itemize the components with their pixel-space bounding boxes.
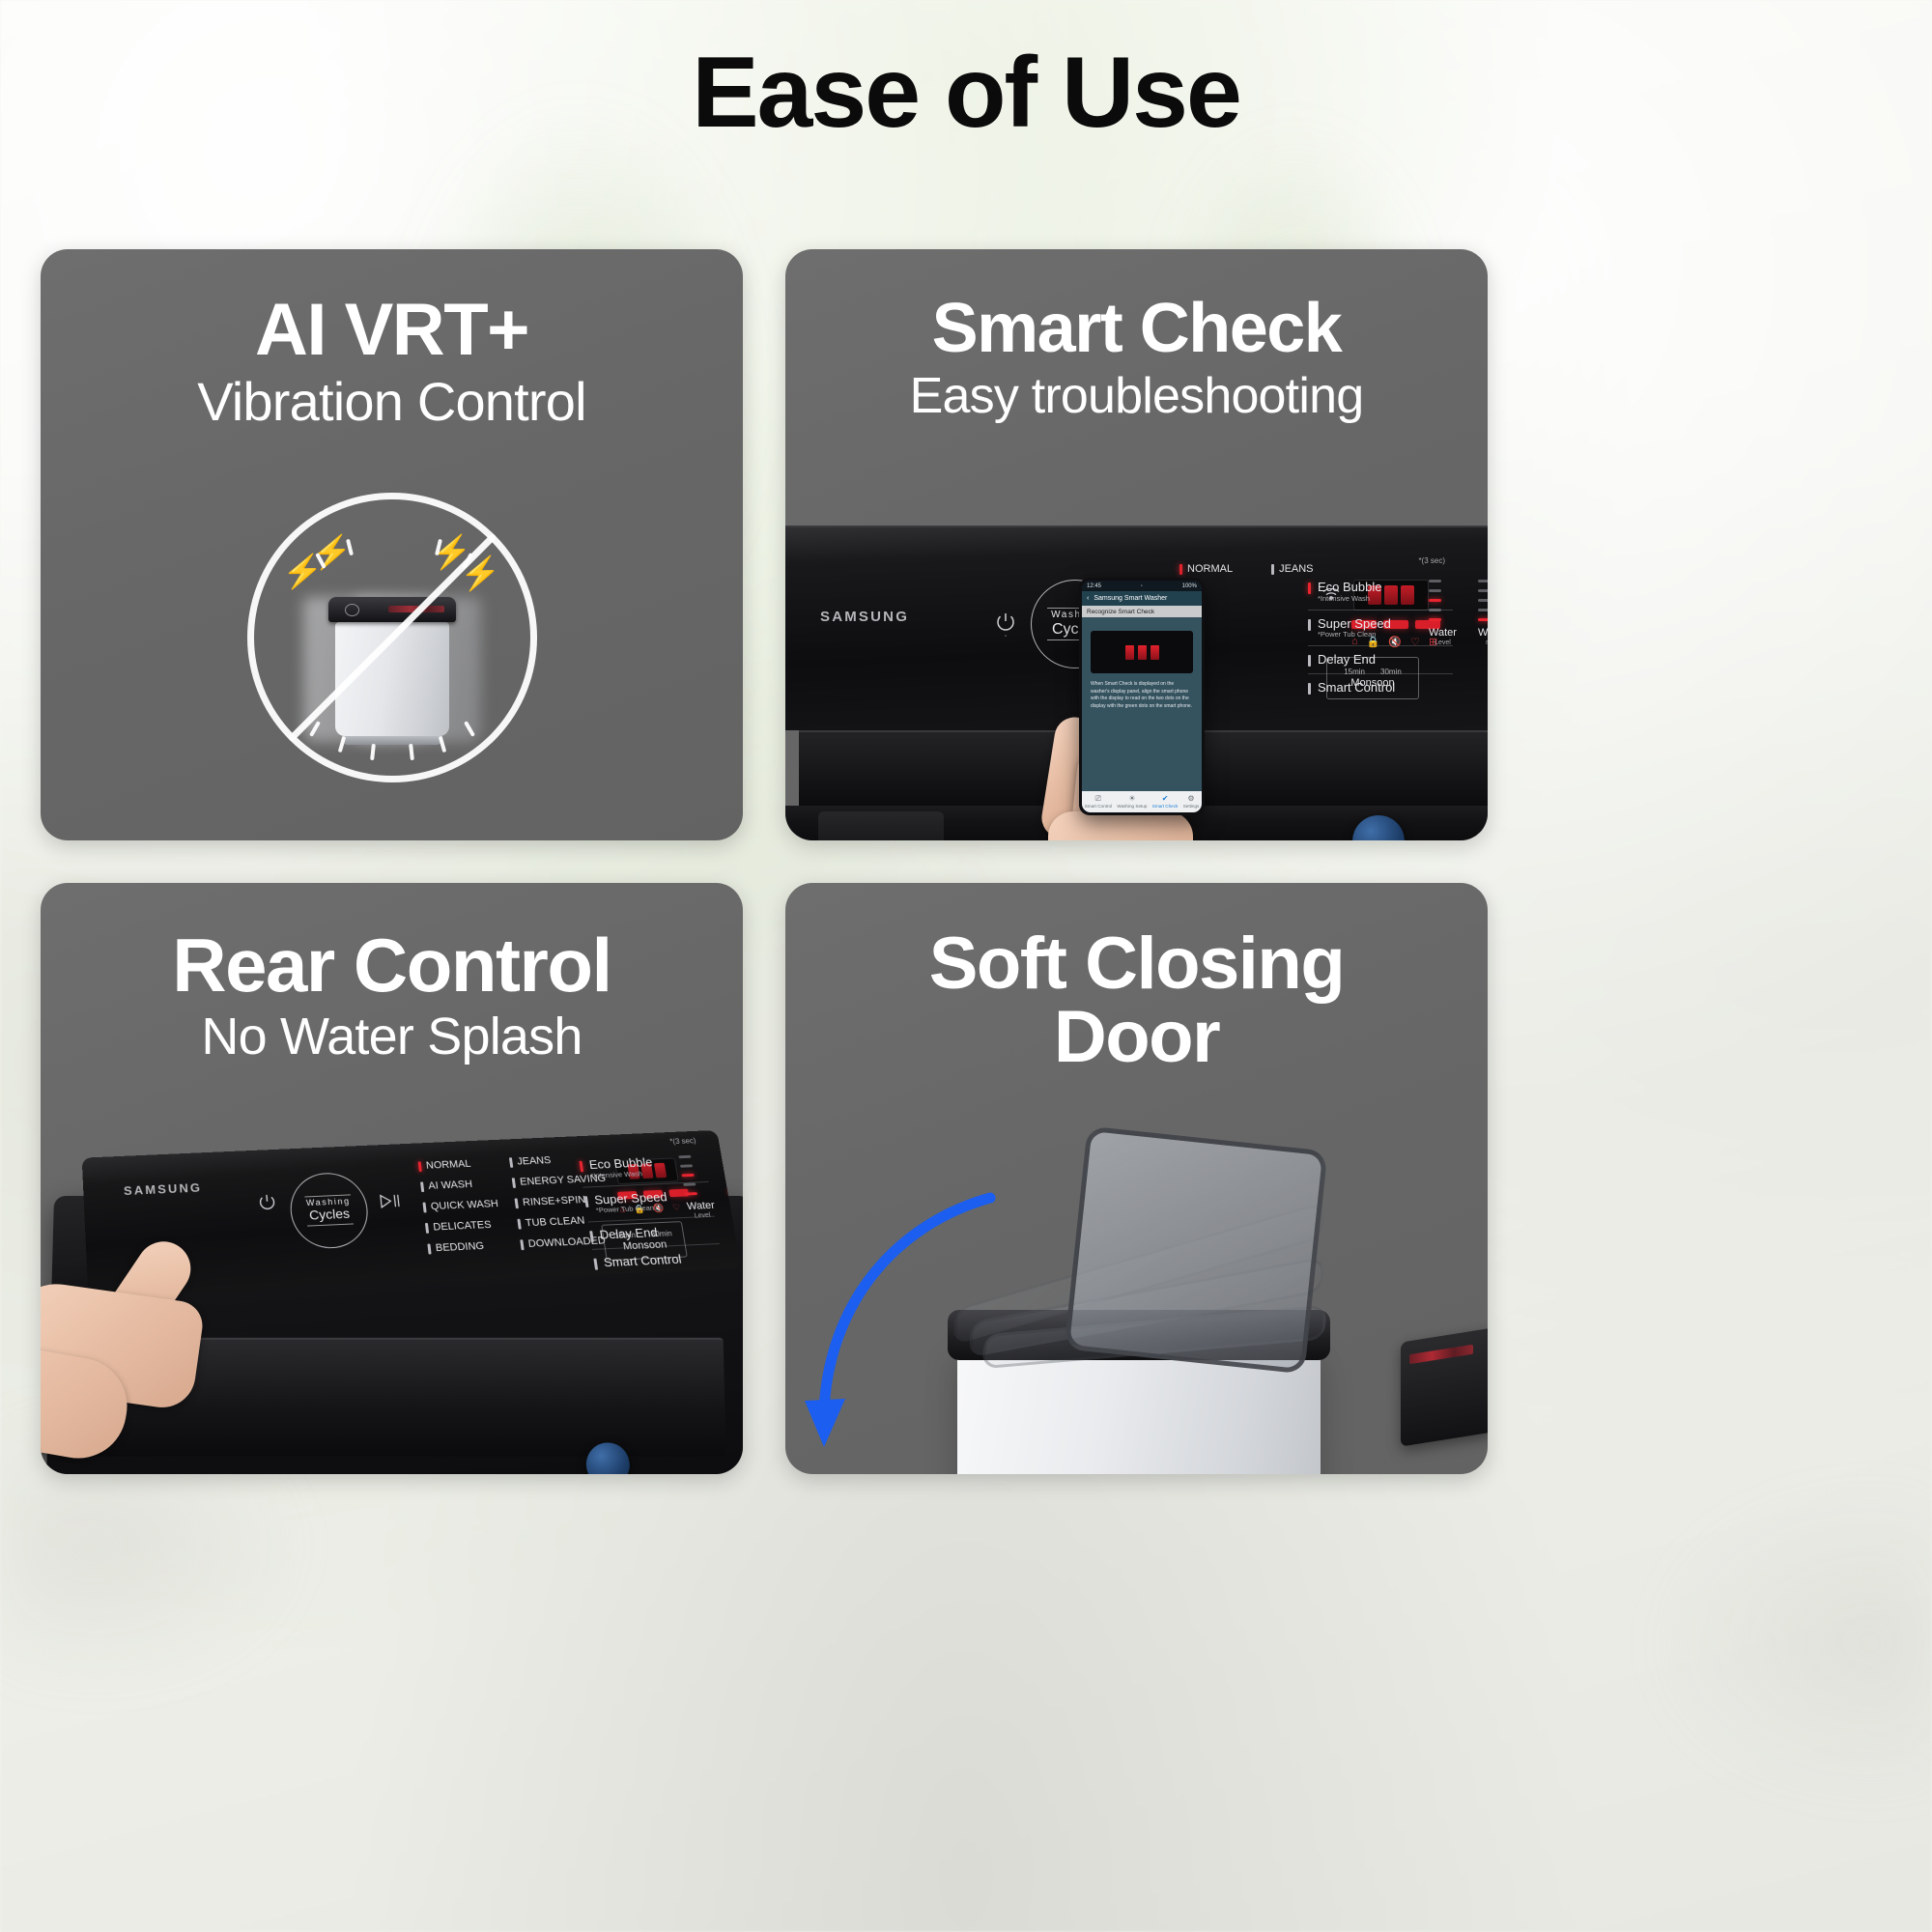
closing-motion-arrow <box>801 1182 1033 1463</box>
option-smart-control[interactable]: Smart Control <box>1308 674 1453 701</box>
no-vibration-icon: ⚡ ⚡ ⚡ ⚡ <box>247 493 537 782</box>
card-title: Soft Closing <box>785 927 1488 1001</box>
option-label: Smart Control <box>603 1252 683 1269</box>
card-title-line2: Door <box>785 1001 1488 1074</box>
cycle-label: JEANS <box>517 1155 552 1167</box>
card-header: Soft Closing Door <box>785 883 1488 1074</box>
option-sublabel: *Intensive Wash <box>590 1170 655 1179</box>
gear-icon: ⚙ <box>1183 795 1200 803</box>
cycle-normal[interactable]: NORMAL <box>418 1158 494 1172</box>
phone-screen[interactable]: 12:45 ◦ 100% ‹ Samsung Smart Washer Reco… <box>1082 581 1202 812</box>
sun-icon: ☀ <box>1117 795 1147 803</box>
option-sublabel: *Power Tub Clean <box>596 1204 669 1214</box>
card-subtitle: No Water Splash <box>41 1009 743 1065</box>
cycle-normal[interactable]: NORMAL <box>1179 564 1233 575</box>
card-artwork <box>785 1173 1488 1474</box>
page-title: Ease of Use <box>0 43 1932 143</box>
nav-label: Washing Setup <box>1117 804 1147 809</box>
capture-segment <box>1138 645 1147 660</box>
card-subtitle: Easy troubleshooting <box>785 369 1488 423</box>
cycle-quick-wash[interactable]: QUICK WASH <box>422 1199 498 1212</box>
card-header: AI VRT+ Vibration Control <box>41 249 743 431</box>
nav-label: Smart Check <box>1152 804 1179 809</box>
cycle-label: AI WASH <box>428 1179 473 1192</box>
status-time: 12:45 <box>1087 583 1101 589</box>
remote-icon: ⎚ <box>1085 795 1112 803</box>
phone-status-bar: 12:45 ◦ 100% <box>1082 581 1202 591</box>
feature-card-rear-control[interactable]: Rear Control No Water Splash SAMSUNG Was <box>41 883 743 1474</box>
level-dots <box>721 1152 741 1193</box>
option-label: Super Speed <box>1318 616 1391 631</box>
cycle-label: NORMAL <box>425 1159 471 1172</box>
option-label: Delay End <box>599 1225 659 1241</box>
power-icon[interactable]: '' <box>994 611 1017 641</box>
phone-instruction-text: When Smart Check is displayed on the was… <box>1091 681 1193 710</box>
card-header: Smart Check Easy troubleshooting <box>785 249 1488 423</box>
palm <box>1048 811 1193 840</box>
phone-section-header: Recognize Smart Check <box>1082 606 1202 617</box>
nav-smart-control[interactable]: ⎚Smart Control <box>1085 795 1112 809</box>
dial-divider-bottom <box>307 1223 354 1226</box>
samsung-logo: SAMSUNG <box>820 609 909 625</box>
level-wash[interactable]: Washmin <box>1478 580 1488 646</box>
back-icon[interactable]: ‹ <box>1087 595 1089 602</box>
option-eco-bubble[interactable]: Eco Bubble*Intensive Wash <box>578 1148 708 1188</box>
cycle-ai-wash[interactable]: AI WASH <box>420 1179 497 1192</box>
card-title: AI VRT+ <box>41 294 743 367</box>
washer-base <box>342 736 442 745</box>
feature-card-grid: AI VRT+ Vibration Control ⚡ ⚡ ⚡ ⚡ <box>41 249 1891 1891</box>
nav-label: Smart Control <box>1085 804 1112 809</box>
washer-display-capture <box>1091 631 1193 673</box>
panel-footnote: *(3 sec) <box>1418 556 1445 565</box>
feature-card-soft-closing-door[interactable]: Soft Closing Door <box>785 883 1488 1474</box>
check-icon: ✔ <box>1152 795 1179 803</box>
cycle-bedding[interactable]: BEDDING <box>427 1240 504 1254</box>
option-label: Smart Control <box>1318 680 1395 695</box>
option-label: Delay End <box>1318 652 1376 667</box>
nav-label: Settings <box>1183 804 1200 809</box>
panel-footnote: *(3 sec) <box>669 1137 696 1147</box>
option-list: Eco Bubble*Intensive Wash Super Speed*Po… <box>578 1148 724 1277</box>
phone-bottom-nav: ⎚Smart Control ☀Washing Setup ✔Smart Che… <box>1082 791 1202 812</box>
card-title: Rear Control <box>41 927 743 1003</box>
level-name: Washmin <box>1478 628 1488 646</box>
level-dots <box>1478 580 1488 621</box>
option-sublabel: *Power Tub Clean <box>1318 631 1391 639</box>
cycle-label: BEDDING <box>435 1241 484 1254</box>
cycle-column-left: NORMAL AI WASH QUICK WASH DELICATES BEDD… <box>418 1158 506 1264</box>
cycle-label: TUB CLEAN <box>525 1216 585 1229</box>
option-label: Eco Bubble <box>1318 580 1382 594</box>
level-name-line1: Wash <box>1478 627 1488 639</box>
cycle-label: RINSE+SPIN <box>522 1195 586 1208</box>
phone-content: When Smart Check is displayed on the was… <box>1082 617 1202 791</box>
card-header: Rear Control No Water Splash <box>41 883 743 1065</box>
nav-smart-check[interactable]: ✔Smart Check <box>1152 795 1179 809</box>
card-title: Smart Check <box>785 294 1488 363</box>
lid-open <box>1065 1126 1328 1375</box>
nav-settings[interactable]: ⚙Settings <box>1183 795 1200 809</box>
washer-panel-photo: SAMSUNG '' Washing Cycles <box>785 526 1488 840</box>
rear-control-panel <box>1401 1327 1488 1446</box>
option-super-speed[interactable]: Super Speed*Power Tub Clean <box>583 1181 715 1222</box>
cycle-label: QUICK WASH <box>430 1199 498 1212</box>
capture-segment <box>1151 645 1159 660</box>
capture-segment <box>1125 645 1134 660</box>
cycle-label: NORMAL <box>1187 564 1233 575</box>
option-list: Eco Bubble*Intensive Wash Super Speed*Po… <box>1308 574 1453 701</box>
card-subtitle: Vibration Control <box>41 373 743 431</box>
feature-card-smart-check[interactable]: Smart Check Easy troubleshooting SAMSUNG… <box>785 249 1488 840</box>
phone-app-bar: ‹ Samsung Smart Washer <box>1082 591 1202 606</box>
start-pause-icon[interactable] <box>378 1192 403 1209</box>
option-label: Eco Bubble <box>588 1155 653 1172</box>
status-dot-icon: ◦ <box>1141 583 1143 589</box>
washer-control-panel <box>328 597 456 622</box>
nav-washing-setup[interactable]: ☀Washing Setup <box>1117 795 1147 809</box>
power-icon[interactable] <box>256 1192 278 1212</box>
cycle-label: DELICATES <box>433 1220 492 1233</box>
option-delay-end[interactable]: Delay End <box>1308 646 1453 674</box>
option-sublabel: *Intensive Wash <box>1318 595 1382 603</box>
option-eco-bubble[interactable]: Eco Bubble*Intensive Wash <box>1308 574 1453 611</box>
smartphone[interactable]: 12:45 ◦ 100% ‹ Samsung Smart Washer Reco… <box>1079 578 1205 815</box>
cycle-delicates[interactable]: DELICATES <box>425 1220 501 1234</box>
feature-card-ai-vrt-plus[interactable]: AI VRT+ Vibration Control ⚡ ⚡ ⚡ ⚡ <box>41 249 743 840</box>
app-title: Samsung Smart Washer <box>1094 595 1167 602</box>
option-super-speed[interactable]: Super Speed*Power Tub Clean <box>1308 611 1453 647</box>
level-name-line2: min <box>1478 639 1488 646</box>
status-battery: 100% <box>1182 583 1197 589</box>
dial-label-bottom: Cycles <box>309 1207 351 1223</box>
card-artwork: SAMSUNG Washing Cycles <box>41 1161 743 1474</box>
washer-illustration <box>328 597 456 745</box>
cycle-jeans[interactable]: JEANS <box>1271 564 1313 575</box>
